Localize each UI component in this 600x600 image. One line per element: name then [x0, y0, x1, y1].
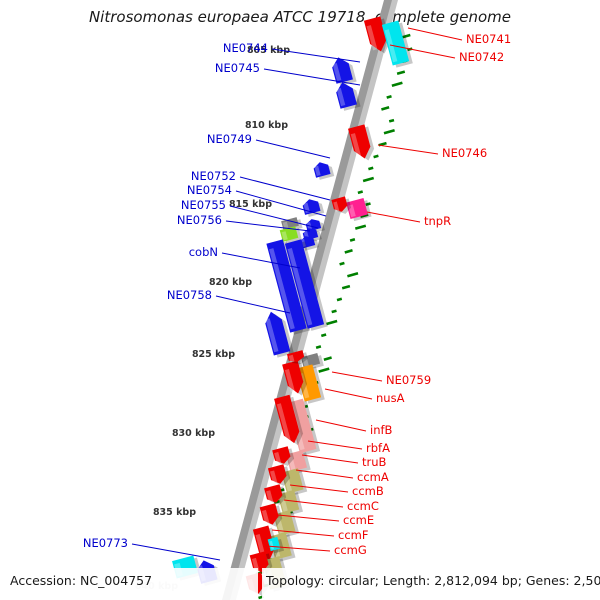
page-title: Nitrosomonas europaea ATCC 19718, comple…: [89, 8, 511, 26]
axis-scale-label: 830 kbp: [172, 428, 215, 439]
gene-label-right[interactable]: tnpR: [424, 214, 451, 228]
axis-scale-label: 815 kbp: [229, 199, 272, 210]
coordinate-tick: [387, 96, 392, 97]
gene-label-left[interactable]: NE0758: [167, 288, 212, 302]
genome-map-viewer: Nitrosomonas europaea ATCC 19718, comple…: [0, 0, 600, 600]
coordinate-tick: [368, 168, 373, 169]
coordinate-tick: [389, 120, 394, 121]
gene-label-right[interactable]: NE0746: [442, 146, 487, 160]
gene-label-left[interactable]: NE0749: [207, 132, 252, 146]
gene-label-right[interactable]: ccmF: [338, 528, 368, 542]
coordinate-tick: [374, 156, 379, 157]
gene-label-right[interactable]: NE0741: [466, 32, 511, 46]
gene-label-right[interactable]: ccmE: [343, 513, 374, 527]
axis-scale-label: 820 kbp: [209, 277, 252, 288]
gene-label-right[interactable]: NE0742: [459, 50, 504, 64]
axis-scale-label: 835 kbp: [153, 507, 196, 518]
accession-label: Accession: NC_004757: [10, 573, 152, 588]
gene-label-right[interactable]: infB: [370, 423, 393, 437]
gene-label-left[interactable]: NE0744: [223, 41, 268, 55]
genome-map-canvas[interactable]: Nitrosomonas europaea ATCC 19718, comple…: [0, 0, 600, 600]
gene-label-left[interactable]: cobN: [189, 245, 218, 259]
coordinate-tick: [332, 311, 337, 312]
gene-label-left[interactable]: NE0756: [177, 213, 222, 227]
coordinate-tick: [316, 346, 321, 347]
gene-label-right[interactable]: ccmB: [352, 484, 384, 498]
gene-label-right[interactable]: ccmA: [357, 470, 389, 484]
coordinate-tick: [358, 192, 363, 193]
gene-label-left[interactable]: NE0754: [187, 183, 232, 197]
axis-scale-label: 825 kbp: [192, 349, 235, 360]
coordinate-tick: [337, 299, 342, 300]
coordinate-tick: [321, 335, 326, 336]
gene-label-left[interactable]: NE0755: [181, 198, 226, 212]
coordinate-tick: [340, 263, 345, 264]
gene-label-right[interactable]: nusA: [376, 391, 405, 405]
axis-scale-label: 810 kbp: [245, 120, 288, 131]
gene-label-right[interactable]: rbfA: [366, 441, 390, 455]
coordinate-tick: [350, 239, 355, 240]
gene-label-right[interactable]: NE0759: [386, 373, 431, 387]
genome-summary: Topology: circular; Length: 2,812,094 bp…: [265, 573, 600, 588]
gene-label-left[interactable]: NE0745: [215, 61, 260, 75]
gene-label-right[interactable]: ccmC: [347, 499, 379, 513]
gene-label-left[interactable]: NE0752: [191, 169, 236, 183]
gene-label-left[interactable]: NE0773: [83, 536, 128, 550]
gene-label-right[interactable]: truB: [362, 455, 387, 469]
gene-label-right[interactable]: ccmG: [334, 543, 367, 557]
